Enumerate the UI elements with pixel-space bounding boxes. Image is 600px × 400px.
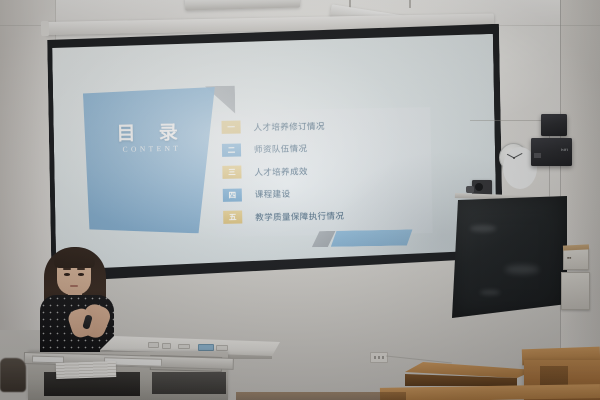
wall-speaker-main: hifi — [531, 138, 572, 166]
classroom-photo: 目 录 CONTENT 一 人才培养修订情况 二 师资队伍情况 三 人才培养成效… — [0, 0, 600, 400]
eye-left — [64, 273, 70, 276]
wall-clock — [499, 143, 528, 172]
toc-badge-3: 三 — [222, 166, 241, 179]
blackboard — [452, 196, 567, 318]
hair-fringe — [54, 248, 95, 268]
wall-outlet — [370, 352, 388, 363]
toc-label-2: 师资队伍情况 — [254, 142, 308, 155]
wall-box-label: ■■ — [567, 256, 571, 260]
title-polygon — [83, 87, 218, 235]
screen-housing-cap — [41, 21, 49, 36]
wall-box: ■■ — [563, 248, 589, 270]
desk-bottom-bench — [380, 384, 600, 400]
toc-item-4: 四 课程建设 — [223, 181, 433, 206]
toc-badge-2: 二 — [222, 143, 241, 156]
security-camera-mount — [466, 186, 474, 193]
slide-title-en: CONTENT — [100, 143, 204, 154]
toc-item-5: 五 教学质量保障执行情况 — [223, 203, 433, 228]
clock-center-pin — [513, 157, 515, 159]
security-camera-lens — [475, 183, 483, 191]
cabinet-shadow-right — [152, 372, 226, 394]
wall-conduit-horizontal — [470, 120, 550, 121]
chalk-smudge-2 — [505, 265, 539, 274]
wall-panel-lower — [561, 272, 590, 310]
eye-right — [78, 273, 84, 276]
outlet-slot-2 — [378, 356, 380, 359]
presentation-slide: 目 录 CONTENT 一 人才培养修订情况 二 师资队伍情况 三 人才培养成效… — [52, 34, 497, 270]
toc-label-5: 教学质量保障执行情况 — [255, 209, 344, 223]
toc-badge-5: 五 — [223, 211, 242, 224]
bottom-parallelogram-decoration — [331, 229, 413, 246]
eyebrow-left — [63, 268, 71, 270]
toc-item-3: 三 人才培养成效 — [222, 158, 432, 183]
lamp-stem-b — [409, 0, 411, 8]
outlet-slot-1 — [374, 356, 376, 359]
toc-item-1: 一 人才培养修订情况 — [221, 113, 431, 138]
chalk-smudge-3 — [480, 290, 500, 295]
bag — [0, 358, 26, 392]
toc-badge-1: 一 — [221, 121, 240, 134]
speaker-grill — [534, 153, 541, 158]
wall-speaker-upper — [541, 114, 567, 136]
console-vga-port[interactable] — [198, 344, 214, 351]
chalk-smudge-1 — [470, 225, 496, 232]
console-control-2[interactable] — [162, 343, 171, 349]
stack-of-papers — [56, 361, 117, 379]
console-control-1[interactable] — [148, 342, 159, 348]
desk-bottom-shadow — [236, 392, 406, 400]
toc-label-1: 人才培养修订情况 — [253, 120, 324, 133]
console-control-4[interactable] — [216, 345, 228, 351]
outlet-slot-3 — [382, 356, 384, 359]
speaker-brand-label: hifi — [561, 147, 568, 152]
table-of-contents: 一 人才培养修订情况 二 师资队伍情况 三 人才培养成效 四 课程建设 五 教学… — [221, 113, 433, 229]
slide-title-cn: 目 录 — [101, 117, 201, 146]
toc-label-3: 人才培养成效 — [254, 165, 308, 178]
toc-badge-4: 四 — [223, 188, 242, 201]
mouth — [70, 285, 78, 287]
eyebrow-right — [77, 268, 85, 270]
toc-item-2: 二 师资队伍情况 — [222, 136, 432, 161]
console-control-3[interactable] — [178, 344, 190, 349]
toc-label-4: 课程建设 — [255, 188, 291, 201]
wall-box-lid — [563, 244, 589, 250]
